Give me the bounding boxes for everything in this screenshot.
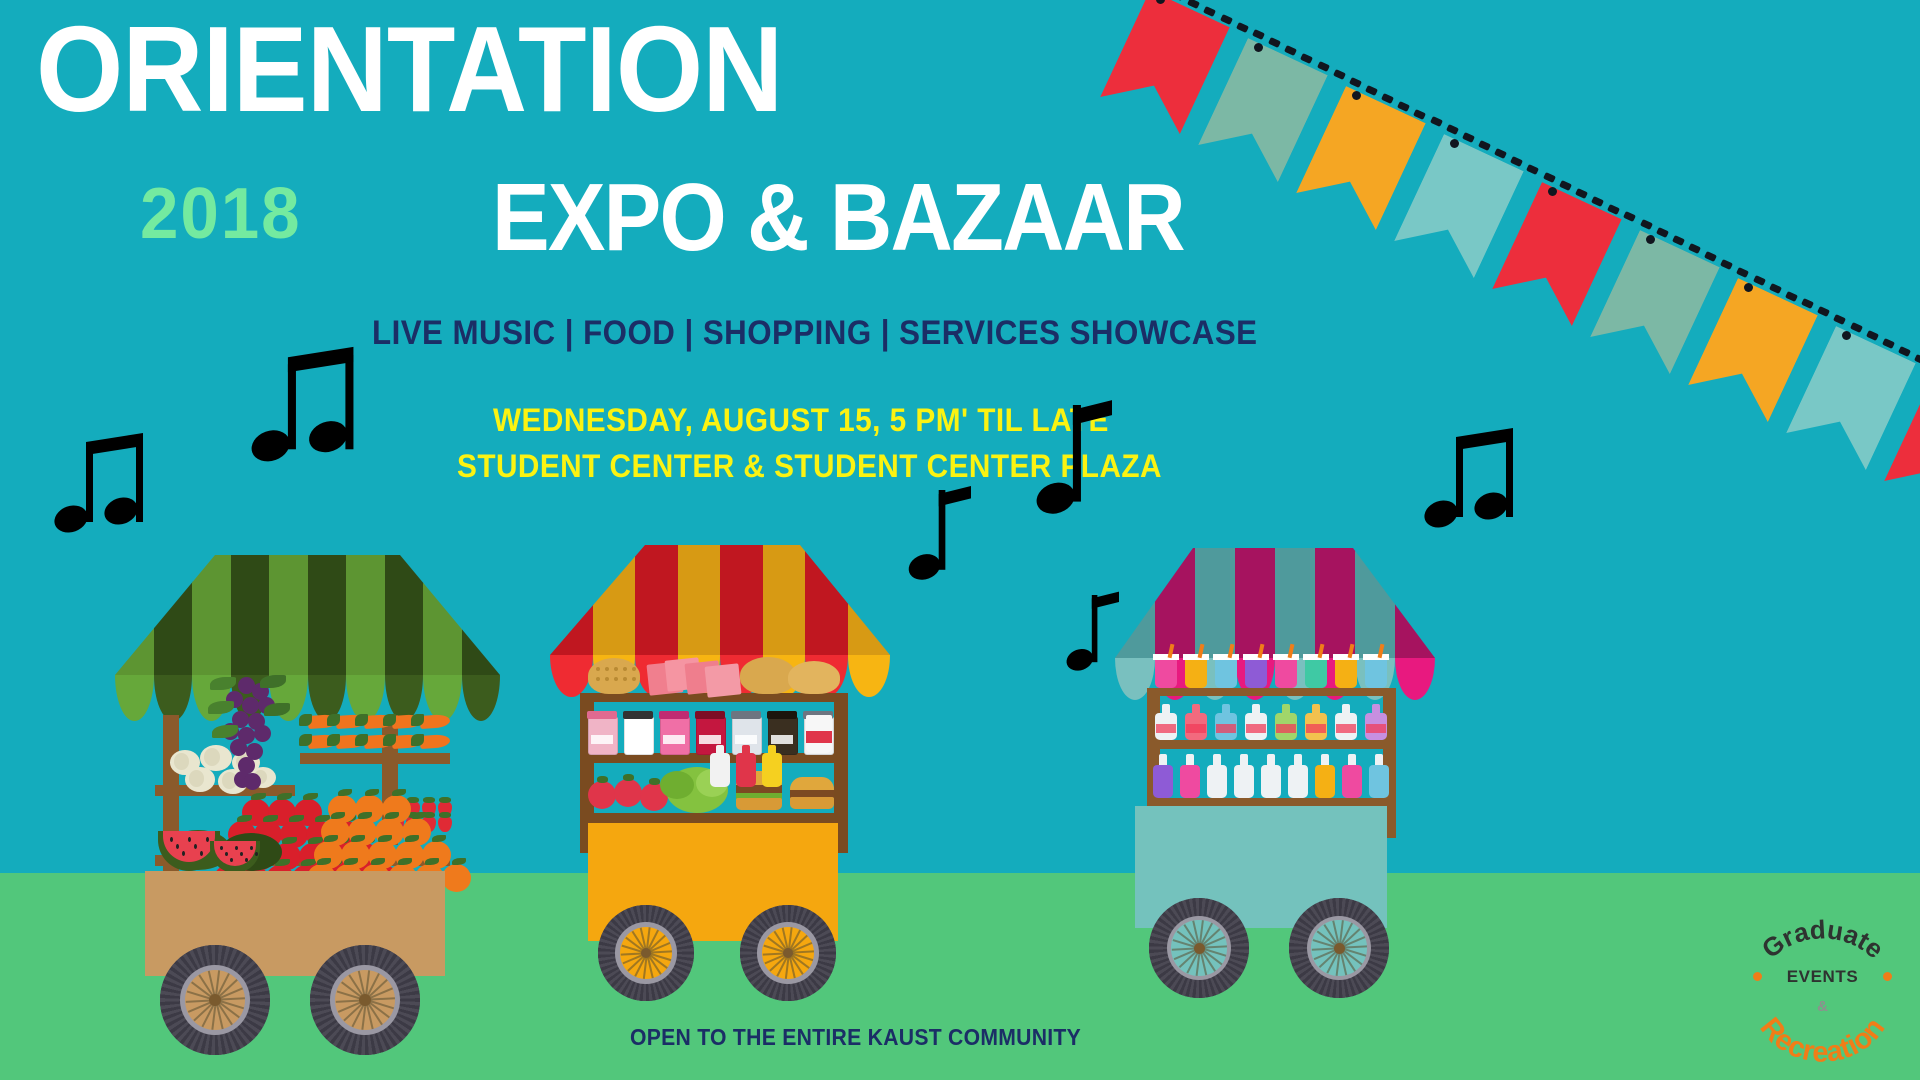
watermelon-seed bbox=[220, 846, 223, 850]
beverage-bottle bbox=[1234, 754, 1254, 798]
goods-jar-label bbox=[663, 735, 685, 744]
bottle-body bbox=[1315, 765, 1335, 798]
smoothie-lid bbox=[1183, 654, 1209, 660]
music-note bbox=[258, 355, 362, 482]
bunting-string-dash bbox=[1478, 140, 1491, 151]
bunting-string-dash bbox=[1785, 291, 1798, 302]
burger-bun bbox=[736, 798, 782, 810]
bunting-string-dash bbox=[1236, 22, 1249, 33]
bunting-string-dash bbox=[1817, 306, 1830, 317]
carrot-top bbox=[383, 714, 396, 726]
carrot bbox=[420, 734, 451, 749]
goods-jar-lid bbox=[767, 711, 797, 719]
goods-jar-label bbox=[627, 735, 649, 744]
beverage-bottle bbox=[1369, 754, 1389, 798]
watermelon-seed bbox=[225, 852, 228, 856]
awning-scallop bbox=[1395, 658, 1435, 700]
bread-dot bbox=[605, 677, 609, 681]
awning-stripe bbox=[593, 545, 637, 655]
logo-ampersand: & bbox=[1735, 998, 1910, 1015]
melon-shade bbox=[189, 770, 204, 787]
bunting-string-dash bbox=[1446, 124, 1459, 135]
bunting-string-dash bbox=[1833, 314, 1846, 325]
bunting-string-dash bbox=[1753, 275, 1766, 286]
carrot-top bbox=[299, 734, 312, 746]
burger bbox=[790, 777, 834, 791]
goods-jar-label bbox=[735, 735, 757, 744]
awning-stripe bbox=[1115, 548, 1156, 658]
cart-awning bbox=[1115, 548, 1435, 658]
music-note bbox=[1020, 405, 1124, 532]
drink-cup-band bbox=[806, 731, 832, 743]
awning-stripe bbox=[720, 545, 764, 655]
awning-scallop bbox=[462, 675, 501, 721]
awning-stripe bbox=[1315, 548, 1356, 658]
bunting-string-dash bbox=[1898, 346, 1911, 357]
note-stem bbox=[288, 364, 296, 449]
smoothie-cup bbox=[1275, 658, 1297, 688]
watermelon-seed bbox=[250, 846, 253, 850]
bunting-garland bbox=[1160, 0, 1920, 420]
beverage-bottle bbox=[1155, 704, 1177, 740]
cart-shelf bbox=[1147, 688, 1396, 696]
beverage-bottle bbox=[1288, 754, 1308, 798]
watermelon-seed bbox=[188, 837, 191, 842]
ham-slice bbox=[704, 663, 741, 697]
beverage-cart bbox=[1115, 548, 1485, 1048]
watermelon-seed bbox=[255, 852, 258, 856]
beverage-bottle bbox=[1342, 754, 1362, 798]
awning-stripe bbox=[115, 555, 155, 675]
bread-dot bbox=[623, 667, 627, 671]
orange-fruit bbox=[442, 864, 471, 892]
bunting-string-dash bbox=[1171, 0, 1184, 1]
tomato-stem bbox=[597, 776, 608, 783]
awning-scallop bbox=[848, 655, 891, 697]
bottle-label bbox=[1246, 724, 1266, 733]
cart-wheel bbox=[310, 945, 420, 1055]
bottle-body bbox=[1261, 765, 1281, 798]
bunting-string-dash bbox=[1704, 251, 1717, 262]
grape-leaf bbox=[210, 677, 236, 690]
carrot bbox=[420, 714, 451, 729]
bunting-grommet bbox=[1646, 235, 1655, 244]
beverage-bottle bbox=[1245, 704, 1267, 740]
beverage-bottle bbox=[1185, 704, 1207, 740]
beverage-bottle bbox=[1275, 704, 1297, 740]
bunting-string-dash bbox=[1252, 29, 1265, 40]
wheel-hub bbox=[1194, 943, 1205, 954]
beverage-bottle bbox=[1335, 704, 1357, 740]
awning-stripe bbox=[192, 555, 232, 675]
tomato-stem bbox=[623, 774, 634, 781]
logo-dot-left bbox=[1753, 972, 1762, 981]
bunting-string-dash bbox=[1607, 204, 1620, 215]
food-cart bbox=[540, 545, 940, 1045]
smoothie-cup bbox=[1335, 658, 1357, 688]
awning-stripe bbox=[423, 555, 463, 675]
carrot-top bbox=[411, 734, 424, 746]
bottle-label bbox=[1216, 724, 1236, 733]
bunting-string-dash bbox=[1365, 85, 1378, 96]
orange-leaf bbox=[392, 789, 406, 796]
smoothie-cup bbox=[1305, 658, 1327, 688]
music-note bbox=[1430, 435, 1520, 545]
bunting-string-dash bbox=[1543, 172, 1556, 183]
wheel-hub bbox=[1334, 943, 1345, 954]
goods-jar-label bbox=[699, 735, 721, 744]
smoothie-cup bbox=[1155, 658, 1177, 688]
bunting-string-dash bbox=[1591, 196, 1604, 207]
watermelon-flesh bbox=[163, 831, 215, 862]
goods-jar-lid bbox=[731, 711, 761, 719]
awning-stripe bbox=[763, 545, 807, 655]
sauce-bottle bbox=[710, 745, 730, 787]
bunting-string-dash bbox=[1430, 116, 1443, 127]
orange-leaf bbox=[365, 789, 379, 796]
watermelon-seed bbox=[176, 844, 179, 849]
wheel-hub bbox=[359, 994, 371, 1006]
cart-wheel bbox=[1149, 898, 1249, 998]
goods-jar-label bbox=[591, 735, 613, 744]
smoothie-lid bbox=[1153, 654, 1179, 660]
bottle-body bbox=[736, 753, 756, 787]
bunting-string-dash bbox=[1381, 93, 1394, 104]
bottle-label bbox=[1366, 724, 1386, 733]
smoothie-cup bbox=[1185, 658, 1207, 688]
poster-canvas: ORIENTATION 2018 EXPO & BAZAAR LIVE MUSI… bbox=[0, 0, 1920, 1080]
produce-cart bbox=[60, 555, 480, 1055]
awning-stripe bbox=[346, 555, 386, 675]
smoothie-cup bbox=[1245, 658, 1267, 688]
cart-shelf bbox=[300, 753, 450, 764]
beverage-bottle bbox=[1261, 754, 1281, 798]
awning-scallop bbox=[550, 655, 593, 697]
bread-dot bbox=[614, 667, 618, 671]
beverage-bottle bbox=[1315, 754, 1335, 798]
svg-text:Graduate: Graduate bbox=[1756, 914, 1890, 964]
graduate-events-recreation-logo: Graduate Recreation EVENTS & bbox=[1735, 895, 1910, 1070]
awning-scallop bbox=[115, 675, 154, 721]
goods-jar-lid bbox=[587, 711, 617, 719]
event-date: WEDNESDAY, AUGUST 15, 5 PM' TIL LATE bbox=[493, 404, 1109, 436]
watermelon-flesh bbox=[214, 841, 256, 866]
tomato bbox=[588, 781, 616, 809]
orange-leaf bbox=[338, 789, 352, 796]
page-title-year: 2018 bbox=[140, 178, 301, 250]
carrot-top bbox=[299, 714, 312, 726]
watermelon-seed bbox=[235, 846, 238, 850]
apple-leaf bbox=[277, 793, 292, 800]
bunting-string-dash bbox=[1220, 14, 1233, 25]
bread-dot bbox=[605, 667, 609, 671]
burger-bun bbox=[790, 797, 834, 809]
awning-stripe bbox=[678, 545, 722, 655]
watermelon-seed bbox=[200, 851, 203, 856]
orange-leaf bbox=[432, 835, 446, 842]
bread-dot bbox=[632, 677, 636, 681]
bunting-string-dash bbox=[1300, 53, 1313, 64]
bottle-body bbox=[710, 753, 730, 787]
awning-stripe bbox=[635, 545, 679, 655]
awning-stripe bbox=[269, 555, 309, 675]
awning-stripe bbox=[550, 545, 594, 655]
bunting-string-dash bbox=[1349, 77, 1362, 88]
awning-stripe bbox=[1235, 548, 1276, 658]
strawberry-leaf bbox=[423, 797, 435, 803]
bunting-flag bbox=[1590, 230, 1720, 374]
lettuce-leaf bbox=[660, 771, 694, 799]
melon-shade bbox=[174, 753, 189, 770]
apple-leaf bbox=[303, 793, 318, 800]
smoothie-lid bbox=[1243, 654, 1269, 660]
page-title-line2: EXPO & BAZAAR bbox=[492, 170, 1184, 266]
beverage-bottle bbox=[1305, 704, 1327, 740]
bottle-body bbox=[1207, 765, 1227, 798]
bottle-label bbox=[1186, 724, 1206, 733]
bottle-label bbox=[1276, 724, 1296, 733]
note-stem bbox=[86, 448, 93, 522]
watermelon-seed bbox=[170, 837, 173, 842]
apple-leaf bbox=[251, 793, 266, 800]
carrot-top bbox=[411, 714, 424, 726]
smoothie-lid bbox=[1273, 654, 1299, 660]
bottle-body bbox=[1288, 765, 1308, 798]
carrot-top bbox=[355, 734, 368, 746]
bunting-string-dash bbox=[1736, 267, 1749, 278]
awning-scallop bbox=[423, 675, 462, 721]
grape-leaf bbox=[260, 675, 286, 688]
awning-stripe bbox=[1155, 548, 1196, 658]
bunting-string-dash bbox=[1559, 180, 1572, 191]
goods-jar-label bbox=[771, 735, 793, 744]
wheel-hub bbox=[209, 994, 221, 1006]
bunting-string-dash bbox=[1640, 219, 1653, 230]
bunting-string-dash bbox=[1510, 156, 1523, 167]
grape bbox=[244, 773, 261, 790]
bottle-body bbox=[1234, 765, 1254, 798]
bread-dot bbox=[623, 677, 627, 681]
cart-wheel bbox=[1289, 898, 1389, 998]
grape-leaf bbox=[264, 703, 290, 716]
sauce-bottle bbox=[736, 745, 756, 787]
cart-wheel bbox=[598, 905, 694, 1001]
strawberry-leaf bbox=[439, 812, 451, 818]
smoothie-cup bbox=[1365, 658, 1387, 688]
awning-stripe bbox=[154, 555, 194, 675]
bread-dot bbox=[596, 677, 600, 681]
bunting-string-dash bbox=[1187, 0, 1200, 9]
watermelon-seed bbox=[245, 858, 248, 862]
grape-leaf bbox=[208, 701, 234, 714]
bottle-body bbox=[1180, 765, 1200, 798]
bunting-grommet bbox=[1254, 43, 1263, 52]
awning-stripe bbox=[308, 555, 348, 675]
smoothie-lid bbox=[1333, 654, 1359, 660]
watermelon-seed bbox=[194, 844, 197, 849]
carrot-top bbox=[327, 734, 340, 746]
bunting-string-dash bbox=[1413, 109, 1426, 120]
tomato-stem bbox=[649, 778, 660, 785]
carrot-top bbox=[383, 734, 396, 746]
bunting-string-dash bbox=[1397, 101, 1410, 112]
bunting-string-dash bbox=[1284, 45, 1297, 56]
bottle-label bbox=[1156, 724, 1176, 733]
bunting-string-dash bbox=[1527, 164, 1540, 175]
cart-wheel bbox=[160, 945, 270, 1055]
carrot-top bbox=[327, 714, 340, 726]
bunting-flag bbox=[1688, 278, 1818, 422]
goods-jar-lid bbox=[623, 711, 653, 719]
awning-stripe bbox=[1275, 548, 1316, 658]
bunting-grommet bbox=[1744, 283, 1753, 292]
bread-dot bbox=[596, 667, 600, 671]
awning-stripe bbox=[385, 555, 425, 675]
grape bbox=[230, 739, 247, 756]
bread-dot bbox=[614, 677, 618, 681]
bunting-string-dash bbox=[1801, 298, 1814, 309]
cart-shelf bbox=[1147, 740, 1396, 749]
bunting-string-dash bbox=[1850, 322, 1863, 333]
bunting-string-dash bbox=[1882, 338, 1895, 349]
bunting-string-dash bbox=[1317, 61, 1330, 72]
bunting-string-dash bbox=[1688, 243, 1701, 254]
bunting-grommet bbox=[1450, 139, 1459, 148]
smoothie-lid bbox=[1213, 654, 1239, 660]
bottle-label bbox=[1306, 724, 1326, 733]
bunting-string-dash bbox=[1268, 37, 1281, 48]
bottle-body bbox=[1153, 765, 1173, 798]
bunting-string-dash bbox=[1203, 6, 1216, 17]
beverage-bottle bbox=[1215, 704, 1237, 740]
smoothie-lid bbox=[1363, 654, 1389, 660]
awning-stripe bbox=[231, 555, 271, 675]
note-stem bbox=[1456, 443, 1463, 517]
cart-shelf bbox=[580, 813, 848, 823]
tagline: LIVE MUSIC | FOOD | SHOPPING | SERVICES … bbox=[372, 316, 1258, 350]
bunting-string-dash bbox=[1769, 283, 1782, 294]
watermelon-seed bbox=[240, 852, 243, 856]
awning-stripe bbox=[848, 545, 891, 655]
cart-wheel bbox=[740, 905, 836, 1001]
orange-leaf bbox=[452, 858, 466, 865]
bunting-string-dash bbox=[1720, 259, 1733, 270]
bottle-body bbox=[1369, 765, 1389, 798]
beverage-bottle bbox=[1153, 754, 1173, 798]
cart-awning bbox=[115, 555, 500, 675]
strawberry bbox=[438, 816, 452, 832]
awning-stripe bbox=[805, 545, 849, 655]
music-note bbox=[60, 440, 150, 550]
bottle-body bbox=[1342, 765, 1362, 798]
tomato bbox=[614, 779, 642, 807]
beverage-bottle bbox=[1207, 754, 1227, 798]
grape bbox=[254, 725, 271, 742]
page-title-line1: ORIENTATION bbox=[36, 8, 782, 130]
watermelon-seed bbox=[182, 851, 185, 856]
grapes bbox=[208, 667, 298, 797]
bunting-string-dash bbox=[1656, 227, 1669, 238]
bunting-string-dash bbox=[1623, 211, 1636, 222]
awning-stripe bbox=[1195, 548, 1236, 658]
bunting-string-dash bbox=[1866, 330, 1879, 341]
carrot-top bbox=[355, 714, 368, 726]
bread-roll bbox=[788, 661, 840, 694]
bunting-grommet bbox=[1352, 91, 1361, 100]
bottle-label bbox=[1336, 724, 1356, 733]
svg-text:Recreation: Recreation bbox=[1754, 1012, 1892, 1069]
goods-jar-lid bbox=[695, 711, 725, 719]
smoothie-lid bbox=[1303, 654, 1329, 660]
logo-dot-right bbox=[1883, 972, 1892, 981]
beverage-bottle bbox=[1180, 754, 1200, 798]
bunting-string-dash bbox=[1575, 188, 1588, 199]
beverage-bottle bbox=[1365, 704, 1387, 740]
bread-dot bbox=[632, 667, 636, 671]
bunting-string-dash bbox=[1462, 132, 1475, 143]
bunting-grommet bbox=[1842, 331, 1851, 340]
bunting-string-dash bbox=[1494, 148, 1507, 159]
strawberry-leaf bbox=[439, 797, 451, 803]
bunting-string-dash bbox=[1333, 69, 1346, 80]
smoothie-cup bbox=[1215, 658, 1237, 688]
goods-jar-lid bbox=[659, 711, 689, 719]
bunting-string-dash bbox=[1672, 235, 1685, 246]
sauce-bottle bbox=[762, 745, 782, 787]
cart-awning bbox=[550, 545, 890, 655]
awning-stripe bbox=[1395, 548, 1435, 658]
watermelon-seed bbox=[206, 837, 209, 842]
bottle-body bbox=[762, 753, 782, 787]
watermelon-seed bbox=[230, 858, 233, 862]
bread-loaf bbox=[588, 658, 640, 694]
bunting-grommet bbox=[1548, 187, 1557, 196]
awning-stripe bbox=[1355, 548, 1396, 658]
